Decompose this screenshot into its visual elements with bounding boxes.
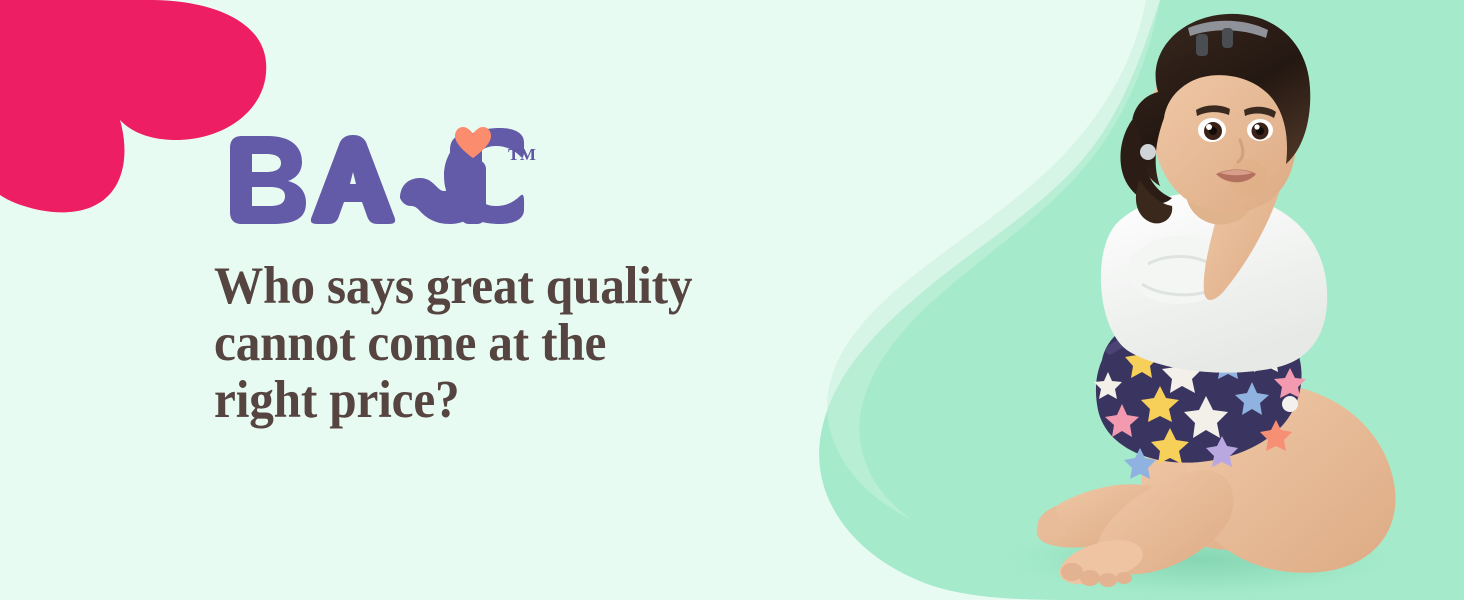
headline: Who says great quality cannot come at th… [214,258,809,429]
eye-right [1247,119,1273,141]
headline-line-1: Who says great quality [214,258,809,315]
brand-logo[interactable]: TM [222,124,542,224]
headline-line-2: cannot come at the [214,315,809,372]
hair-jewel [1140,144,1156,160]
headline-line-3: right price? [214,372,809,429]
promo-banner: TM Who says great quality cannot come at… [0,0,1464,600]
logo-wordmark [222,124,542,224]
trademark-symbol: TM [508,146,536,163]
diaper-snap [1282,396,1298,412]
logo-letter-a [311,135,395,224]
logo-letter-b [230,136,306,224]
eye-left [1198,118,1226,142]
product-photo [990,0,1464,600]
